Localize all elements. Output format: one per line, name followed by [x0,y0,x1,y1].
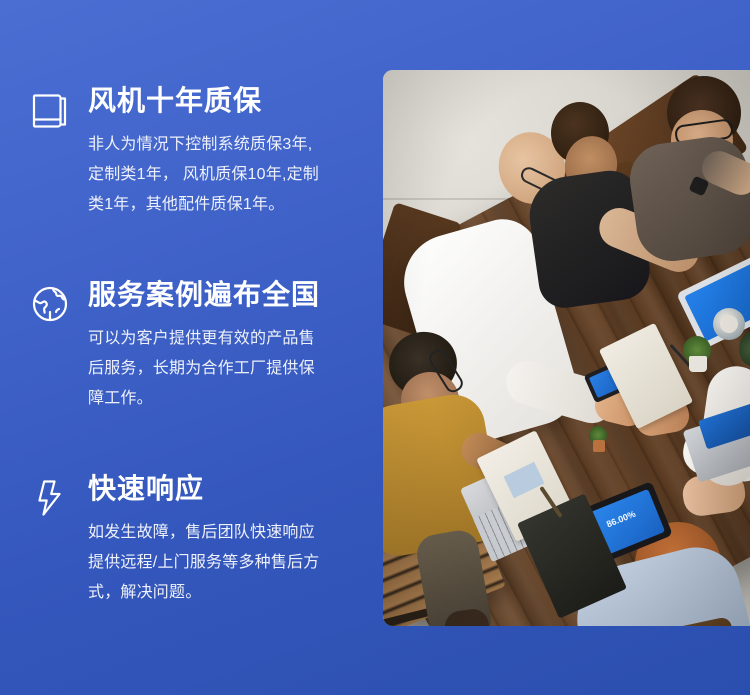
photo-vignette [383,70,750,626]
feature-item-warranty: 风机十年质保 非人为情况下控制系统质保3年, 定制类1年， 风机质保10年,定制… [28,84,328,220]
feature-desc-line: 后服务，长期为合作工厂提供保 [88,354,363,384]
feature-description: 如发生故障，售后团队快速响应 提供远程/上门服务等多种售后方 式，解决问题。 [28,506,363,608]
feature-item-fast-response: 快速响应 如发生故障，售后团队快速响应 提供远程/上门服务等多种售后方 式，解决… [28,472,328,608]
promo-banner: 86.00% [0,0,750,695]
lightning-bolt-icon [28,476,72,520]
feature-desc-line: 可以为客户提供更有效的产品售 [88,324,363,354]
feature-title: 快速响应 [28,472,328,506]
team-meeting-photo: 86.00% [383,70,750,626]
feature-desc-line: 障工作。 [88,384,363,414]
feature-item-nationwide-service: 服务案例遍布全国 可以为客户提供更有效的产品售 后服务，长期为合作工厂提供保 障… [28,278,328,414]
photo-canvas: 86.00% [383,70,750,626]
feature-description: 可以为客户提供更有效的产品售 后服务，长期为合作工厂提供保 障工作。 [28,312,363,414]
book-icon [28,88,72,132]
feature-desc-line: 类1年，其他配件质保1年。 [88,190,363,220]
feature-desc-line: 式，解决问题。 [88,578,363,608]
feature-desc-line: 非人为情况下控制系统质保3年, [88,130,363,160]
globe-icon [28,282,72,326]
feature-desc-line: 提供远程/上门服务等多种售后方 [88,548,363,578]
feature-desc-line: 如发生故障，售后团队快速响应 [88,518,363,548]
feature-title: 服务案例遍布全国 [28,278,328,312]
feature-desc-line: 定制类1年， 风机质保10年,定制 [88,160,363,190]
feature-title: 风机十年质保 [28,84,328,118]
feature-description: 非人为情况下控制系统质保3年, 定制类1年， 风机质保10年,定制 类1年，其他… [28,118,363,220]
